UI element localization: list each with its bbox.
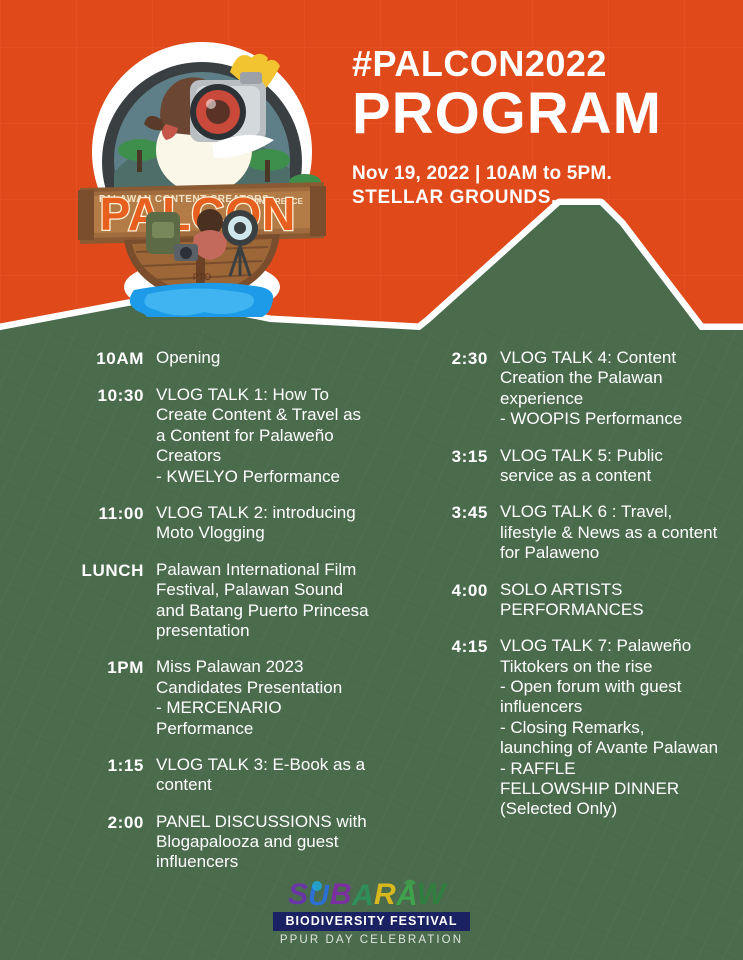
svg-text:B: B bbox=[330, 878, 352, 911]
schedule-row: 4:00SOLO ARTISTS PERFORMANCES bbox=[380, 580, 720, 621]
schedule-description: VLOG TALK 2: introducing Moto Vlogging bbox=[144, 503, 371, 544]
schedule-description: VLOG TALK 4: Content Creation the Palawa… bbox=[488, 348, 720, 430]
schedule-time: 4:15 bbox=[380, 636, 488, 820]
schedule-time: 3:15 bbox=[380, 446, 488, 487]
poster-canvas: PALAWAN CONTENT CREATORS CONFERENCE PALC… bbox=[0, 0, 743, 960]
schedule-time: 2:30 bbox=[380, 348, 488, 430]
water-drop-icon bbox=[312, 881, 322, 891]
schedule-row: 2:00PANEL DISCUSSIONS with Blogapalooza … bbox=[26, 812, 371, 873]
schedule-time: 10:30 bbox=[26, 385, 144, 487]
schedule-row: 4:15VLOG TALK 7: Palaweño Tiktokers on t… bbox=[380, 636, 720, 820]
schedule-row: 1:15VLOG TALK 3: E-Book as a content bbox=[26, 755, 371, 796]
schedule-description: Miss Palawan 2023 Candidates Presentatio… bbox=[144, 657, 371, 739]
schedule-time: 4:00 bbox=[380, 580, 488, 621]
schedule-time: 11:00 bbox=[26, 503, 144, 544]
subaraw-wordmark: S U B A R A W bbox=[284, 875, 460, 911]
schedule-time: LUNCH bbox=[26, 560, 144, 642]
svg-text:PALCON: PALCON bbox=[100, 188, 297, 240]
schedule-row: 3:15VLOG TALK 5: Public service as a con… bbox=[380, 446, 720, 487]
event-hashtag: #PALCON2022 bbox=[352, 46, 732, 82]
schedule-description: VLOG TALK 6 : Travel, lifestyle & News a… bbox=[488, 502, 720, 563]
svg-text:W: W bbox=[417, 878, 448, 911]
schedule-row: 10AMOpening bbox=[26, 348, 371, 369]
schedule-description: VLOG TALK 1: How To Create Content & Tra… bbox=[144, 385, 371, 487]
schedule-description: PANEL DISCUSSIONS with Blogapalooza and … bbox=[144, 812, 371, 873]
schedule-row: 1PMMiss Palawan 2023 Candidates Presenta… bbox=[26, 657, 371, 739]
schedule-description: VLOG TALK 3: E-Book as a content bbox=[144, 755, 371, 796]
schedule-row: LUNCHPalawan International Film Festival… bbox=[26, 560, 371, 642]
palcon-logo: PALAWAN CONTENT CREATORS CONFERENCE PALC… bbox=[62, 32, 342, 317]
subaraw-banner-text: BIODIVERSITY FESTIVAL bbox=[273, 912, 471, 931]
schedule-description: VLOG TALK 5: Public service as a content bbox=[488, 446, 720, 487]
svg-text:PTO: PTO bbox=[193, 272, 211, 282]
schedule-description: Palawan International Film Festival, Pal… bbox=[144, 560, 371, 642]
schedule-time: 10AM bbox=[26, 348, 144, 369]
schedule-row: 2:30VLOG TALK 4: Content Creation the Pa… bbox=[380, 348, 720, 430]
schedule-row: 10:30VLOG TALK 1: How To Create Content … bbox=[26, 385, 371, 487]
schedule-column-left: 10AMOpening10:30VLOG TALK 1: How To Crea… bbox=[26, 348, 371, 889]
schedule-row: 3:45VLOG TALK 6 : Travel, lifestyle & Ne… bbox=[380, 502, 720, 563]
schedule-time: 1:15 bbox=[26, 755, 144, 796]
schedule-row: 11:00VLOG TALK 2: introducing Moto Vlogg… bbox=[26, 503, 371, 544]
svg-text:A: A bbox=[351, 879, 374, 911]
schedule-time: 2:00 bbox=[26, 812, 144, 873]
schedule-column-right: 2:30VLOG TALK 4: Content Creation the Pa… bbox=[380, 348, 720, 836]
page-title: PROGRAM bbox=[352, 84, 732, 143]
schedule-description: SOLO ARTISTS PERFORMANCES bbox=[488, 580, 720, 621]
svg-text:R: R bbox=[374, 878, 396, 911]
svg-text:S: S bbox=[288, 878, 308, 911]
subaraw-festival-logo: S U B A R A W BIODIVERSITY FESTIVAL PPUR… bbox=[0, 875, 743, 946]
schedule-time: 3:45 bbox=[380, 502, 488, 563]
schedule-description: Opening bbox=[144, 348, 371, 369]
event-venue: STELLAR GROUNDS, bbox=[352, 186, 732, 210]
schedule-description: VLOG TALK 7: Palaweño Tiktokers on the r… bbox=[488, 636, 720, 820]
subaraw-subtitle: PPUR DAY CELEBRATION bbox=[280, 935, 463, 947]
event-datetime: Nov 19, 2022 | 10AM to 5PM. bbox=[352, 162, 732, 186]
schedule-time: 1PM bbox=[26, 657, 144, 739]
header-block: #PALCON2022 PROGRAM Nov 19, 2022 | 10AM … bbox=[352, 46, 732, 211]
